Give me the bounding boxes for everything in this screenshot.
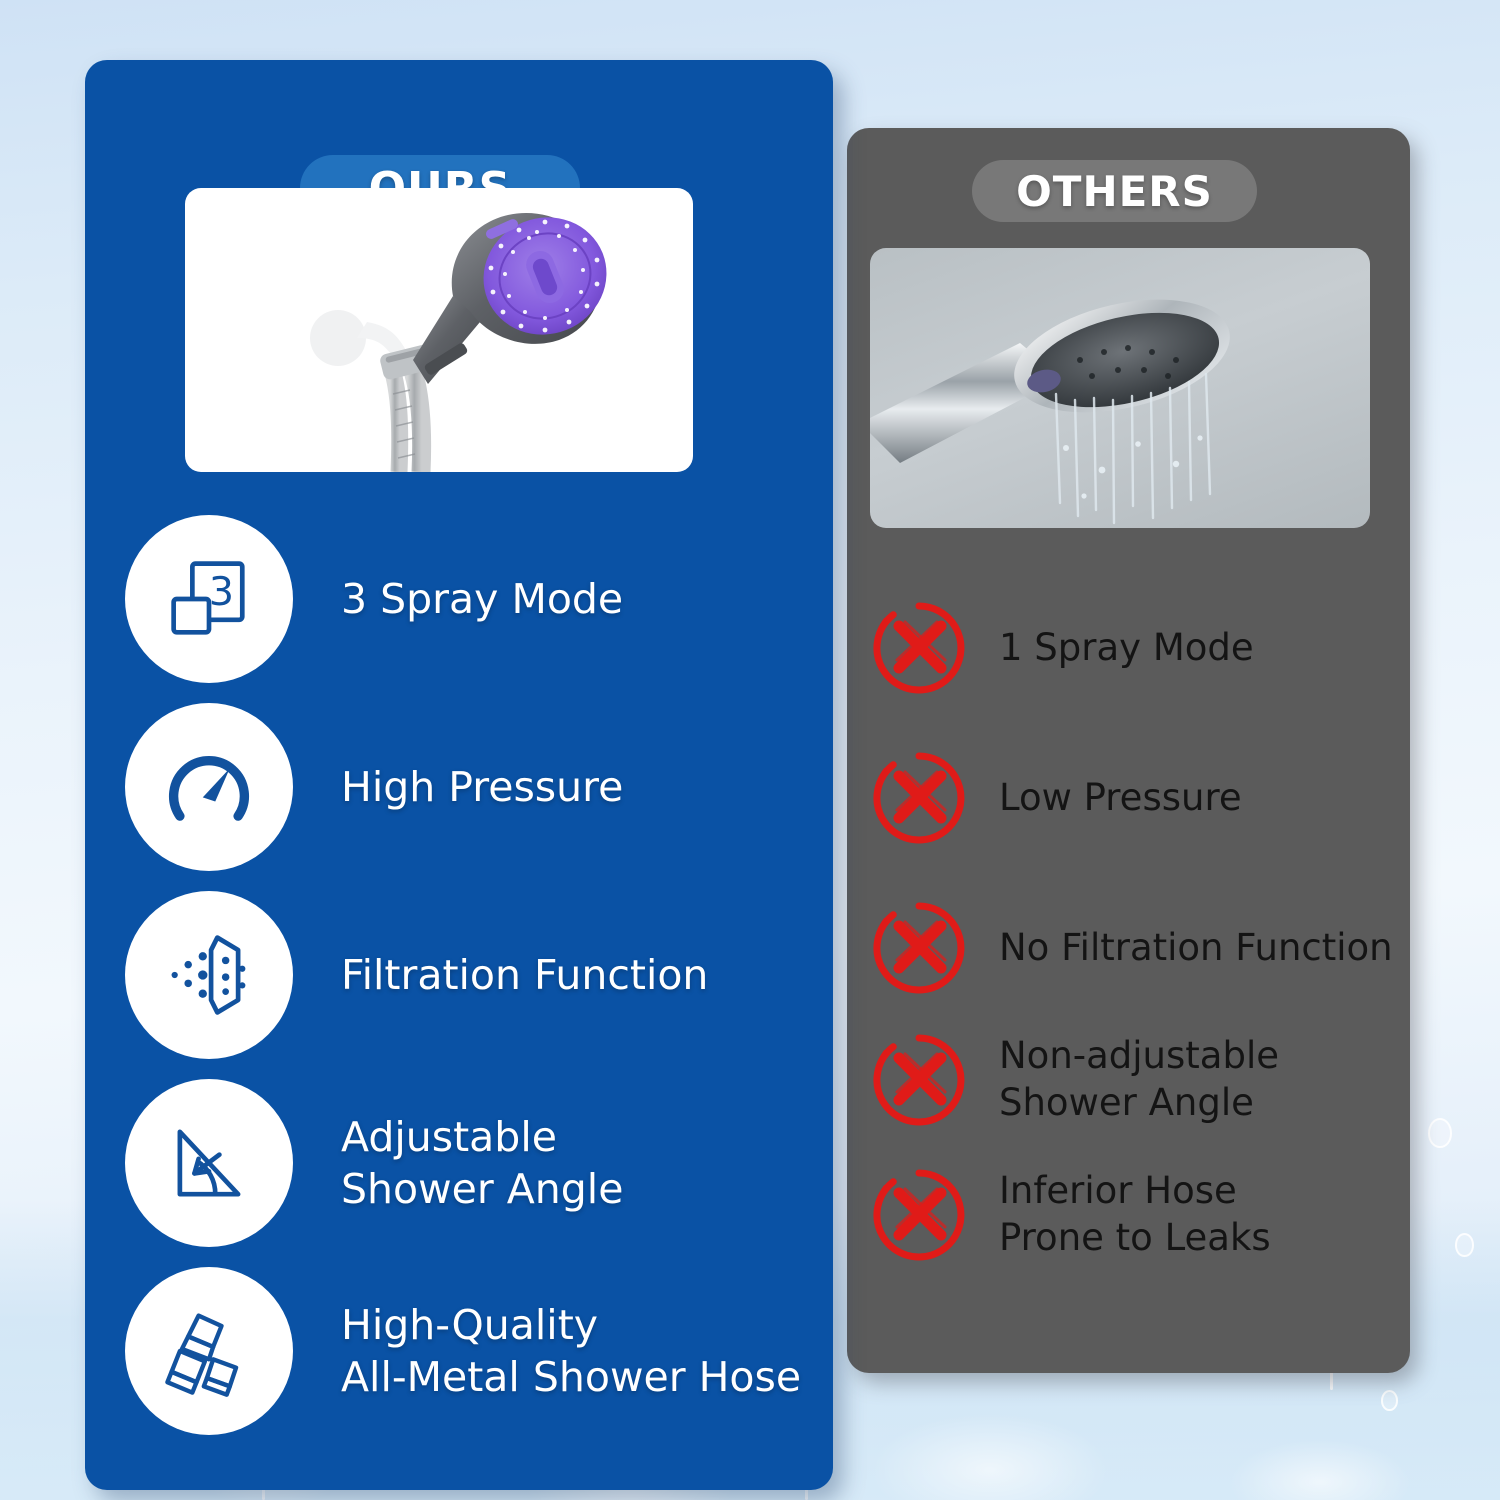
others-badge: OTHERS	[972, 160, 1257, 222]
drawback-label-line1: Non-adjustable	[999, 1034, 1279, 1077]
three-spray-modes-icon: 3	[125, 515, 293, 683]
feature-row: Adjustable Shower Angle	[125, 1079, 825, 1247]
drawback-label-line2: Prone to Leaks	[999, 1216, 1271, 1259]
drawback-label-multiline: Inferior Hose Prone to Leaks	[999, 1168, 1271, 1261]
ours-comparison-panel: OURS	[85, 60, 833, 1490]
drawback-label: 1 Spray Mode	[999, 625, 1254, 672]
feature-row: Filtration Function	[125, 891, 825, 1059]
cross-circle-icon	[867, 596, 971, 700]
water-droplet	[1428, 1118, 1452, 1148]
feature-row: 3 3 Spray Mode	[125, 515, 825, 683]
cross-circle-icon	[867, 896, 971, 1000]
feature-label: Filtration Function	[341, 949, 708, 1001]
feature-label-multiline: High-Quality All-Metal Shower Hose	[341, 1299, 801, 1404]
cross-circle-icon	[867, 1028, 971, 1132]
drawback-row: 1 Spray Mode	[867, 596, 1407, 700]
feature-label-multiline: Adjustable Shower Angle	[341, 1111, 623, 1216]
water-droplet	[1381, 1390, 1398, 1411]
others-comparison-panel: OTHERS	[847, 128, 1410, 1373]
drawback-label-multiline: Non-adjustable Shower Angle	[999, 1033, 1279, 1126]
pressure-gauge-icon	[125, 703, 293, 871]
feature-label: High Pressure	[341, 761, 623, 813]
svg-text:3: 3	[209, 569, 234, 615]
others-badge-label: OTHERS	[1016, 167, 1213, 216]
feature-label-line1: High-Quality	[341, 1301, 598, 1349]
feature-label: 3 Spray Mode	[341, 573, 623, 625]
cross-circle-icon	[867, 1163, 971, 1267]
others-shower-head-illustration	[870, 248, 1370, 528]
drawback-label-line1: Inferior Hose	[999, 1169, 1237, 1212]
filtration-icon	[125, 891, 293, 1059]
drawback-row: Inferior Hose Prone to Leaks	[867, 1163, 1407, 1267]
drawback-label: Low Pressure	[999, 775, 1242, 822]
water-droplet	[1455, 1233, 1474, 1257]
drawback-label: No Filtration Function	[999, 925, 1393, 972]
cross-circle-icon	[867, 746, 971, 850]
metal-bars-icon	[125, 1267, 293, 1435]
feature-label-line1: Adjustable	[341, 1113, 557, 1161]
others-product-image	[870, 248, 1370, 528]
feature-row: High Pressure	[125, 703, 825, 871]
drawback-row: No Filtration Function	[867, 896, 1407, 1000]
feature-label-line2: All-Metal Shower Hose	[341, 1353, 801, 1401]
feature-row: High-Quality All-Metal Shower Hose	[125, 1267, 825, 1435]
drawback-label-line2: Shower Angle	[999, 1081, 1254, 1124]
adjustable-angle-icon	[125, 1079, 293, 1247]
ours-product-image	[185, 188, 693, 472]
feature-label-line2: Shower Angle	[341, 1165, 623, 1213]
ours-shower-head-illustration	[185, 188, 693, 472]
drawback-row: Non-adjustable Shower Angle	[867, 1028, 1407, 1132]
drawback-row: Low Pressure	[867, 746, 1407, 850]
